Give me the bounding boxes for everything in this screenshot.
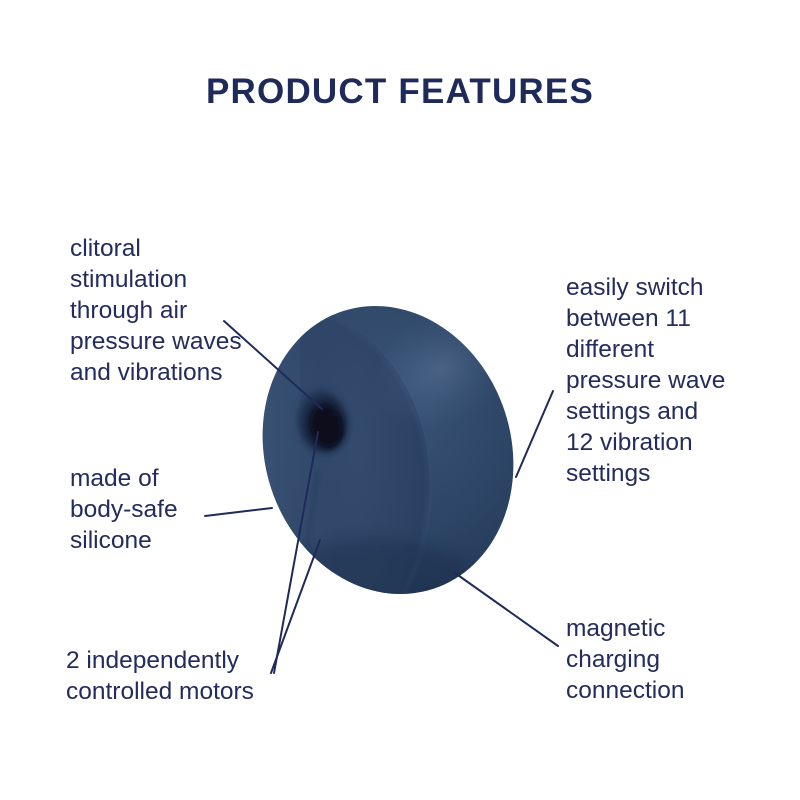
leader-line-motor-2 bbox=[274, 432, 318, 673]
leader-line-magnetic-charging bbox=[455, 573, 558, 646]
callout-clitoral-stimulation: clitoral stimulation through air pressur… bbox=[70, 233, 280, 388]
air-pulse-opening bbox=[290, 384, 354, 458]
product-features-infographic: PRODUCT FEATURES bbox=[0, 0, 800, 800]
leader-line-pressure-settings bbox=[516, 391, 553, 477]
page-title: PRODUCT FEATURES bbox=[0, 72, 800, 112]
callout-independent-motors: 2 independently controlled motors bbox=[66, 645, 306, 707]
callout-magnetic-charging: magnetic charging connection bbox=[566, 613, 766, 706]
callout-pressure-wave-settings: easily switch between 11 different press… bbox=[566, 272, 766, 489]
callout-body-safe-silicone: made of body-safe silicone bbox=[70, 463, 260, 556]
